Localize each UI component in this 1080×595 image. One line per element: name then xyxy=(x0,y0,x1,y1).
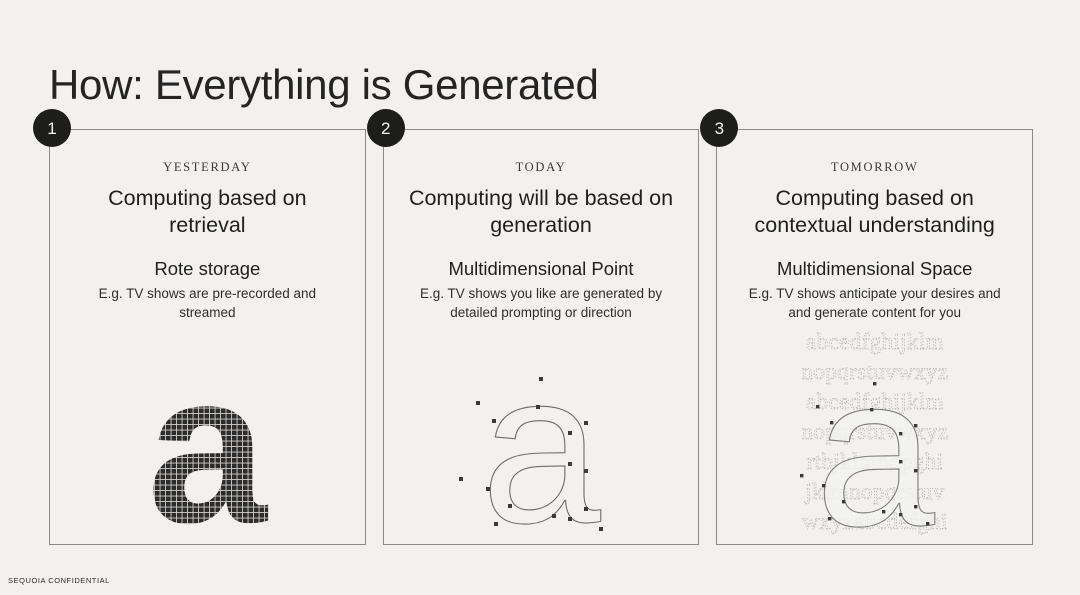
vector-outline-letter-a-icon: a xyxy=(456,359,626,544)
card-headline-3: Computing based on contextual understand… xyxy=(739,185,1010,239)
card-headline-2: Computing will be based on generation xyxy=(406,185,677,239)
page-title: How: Everything is Generated xyxy=(49,58,599,112)
card-step-badge-1: 1 xyxy=(33,109,71,147)
card-yesterday[interactable]: 1 YESTERDAY Computing based on retrieval… xyxy=(49,129,366,545)
bitmap-letter-a-graphic: a xyxy=(50,314,365,544)
alphabet-grid-with-letter-a-icon: abcedfghijklm nopqrstuvwxyz abcedfghijkl… xyxy=(760,329,990,544)
alphabet-grid-graphic: abcedfghijklm nopqrstuvwxyz abcedfghijkl… xyxy=(717,314,1032,544)
card-step-badge-3: 3 xyxy=(700,109,738,147)
card-tomorrow[interactable]: 3 TOMORROW Computing based on contextual… xyxy=(716,129,1033,545)
card-subhead-1: Rote storage xyxy=(154,257,260,281)
timeline-cards: 1 YESTERDAY Computing based on retrieval… xyxy=(49,129,1033,545)
confidential-footer: SEQUOIA CONFIDENTIAL xyxy=(8,576,110,585)
svg-text:a: a xyxy=(481,359,601,544)
card-eyebrow-2: TODAY xyxy=(516,161,567,174)
card-headline-1: Computing based on retrieval xyxy=(72,185,343,239)
vector-letter-a-graphic: a xyxy=(384,314,699,544)
overlay-letter-a: a xyxy=(815,330,935,544)
bitmap-letter-a-icon: a xyxy=(122,359,292,544)
card-eyebrow-1: YESTERDAY xyxy=(163,161,251,174)
card-today[interactable]: 2 TODAY Computing will be based on gener… xyxy=(383,129,700,545)
card-subhead-3: Multidimensional Space xyxy=(777,257,972,281)
card-eyebrow-3: TOMORROW xyxy=(831,161,919,174)
card-subhead-2: Multidimensional Point xyxy=(448,257,633,281)
card-step-badge-2: 2 xyxy=(367,109,405,147)
